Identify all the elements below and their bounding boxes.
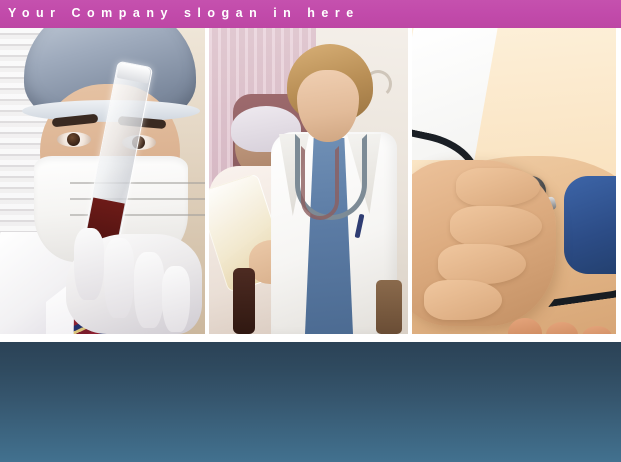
photo-doctor-patient-canvas: [209, 28, 408, 334]
eye-left: [57, 132, 91, 147]
furniture-post-left: [233, 268, 255, 334]
glove-finger: [162, 266, 190, 332]
photo-stethoscope-exam: [412, 28, 616, 334]
photo-stethoscope-exam-canvas: [412, 28, 616, 334]
test-tube-cap: [117, 62, 151, 84]
glove-finger: [74, 228, 104, 300]
photo-lab-technician-canvas: [0, 28, 205, 334]
hand-finger: [424, 280, 502, 320]
slogan-text: Your Company slogan in here: [8, 5, 360, 21]
patient-toes: [508, 302, 616, 334]
hand-finger: [456, 168, 540, 206]
iris-left: [67, 133, 80, 146]
photo-doctor-patient: [209, 28, 408, 334]
photo-lab-technician: [0, 28, 205, 334]
mask-pleat: [70, 182, 205, 184]
toe: [582, 326, 612, 334]
title-panel: ThemeGallery PowerTemplate L/O/G/O: [0, 342, 621, 462]
photo-strip: [0, 28, 621, 334]
glove-finger: [134, 252, 164, 328]
presentation-slide: Your Company slogan in here: [0, 0, 621, 462]
stethoscope-tube: [301, 146, 339, 220]
panel-separator: [0, 334, 621, 342]
toe: [508, 318, 542, 334]
slogan-bar: Your Company slogan in here: [0, 0, 621, 28]
furniture-post-right: [376, 280, 402, 334]
hand-finger: [450, 206, 542, 246]
toe: [546, 322, 578, 334]
hand-finger: [438, 244, 526, 284]
glove-finger: [104, 238, 134, 318]
